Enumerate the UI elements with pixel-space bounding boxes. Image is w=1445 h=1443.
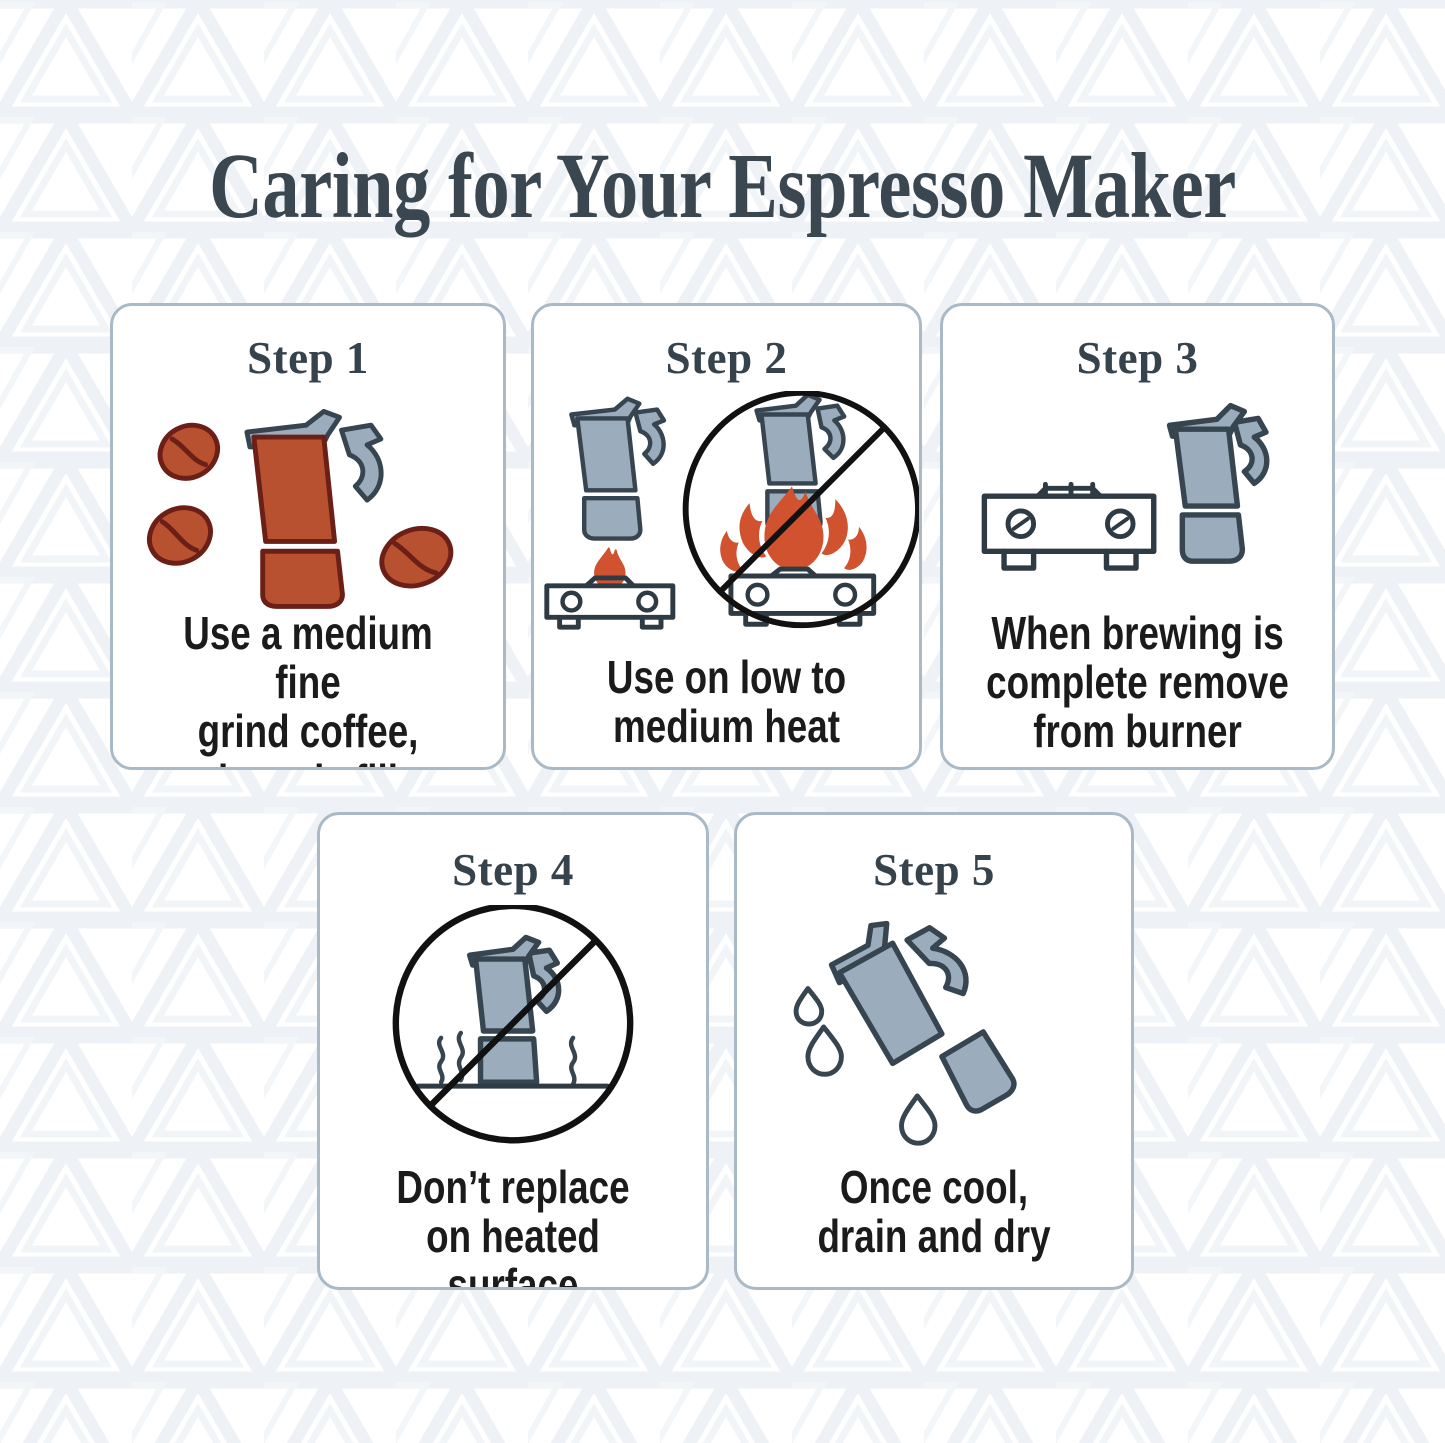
page-title: Caring for Your Espresso Maker [145,138,1301,236]
step-card-2: Step 2 [531,303,922,770]
moka-pot-icon [470,937,559,1082]
step-caption-5: Once cool, drain and dry [776,1163,1091,1261]
illustration-no-pot-on-heated-surface [320,905,706,1155]
crossed-out-high-flame-group [686,393,918,625]
pot-handle [341,425,381,500]
moka-pot-on-low-flame [547,399,673,627]
step-label-3: Step 3 [943,332,1332,384]
illustration-low-flame-vs-high-flame [534,391,919,631]
pot-lower-chamber [942,1032,1014,1111]
step-caption-4: Don’t replace on heated surface [359,1163,668,1290]
step-label-1: Step 1 [113,332,503,384]
heat-wave-icon [571,1038,575,1084]
pot-upper-chamber [254,437,335,541]
coffee-bean-icon [151,415,227,488]
illustration-disassembled-pot-draining [737,900,1131,1150]
illustration-stove-and-removed-pot [943,391,1332,626]
step-caption-1: Use a medium fine grind coffee, loosely … [152,609,464,770]
large-flames-icon [720,486,866,571]
illustration-red-moka-pot-with-beans [113,394,503,614]
stove-icon [984,484,1153,568]
small-flame-icon [595,548,625,587]
step-label-2: Step 2 [534,332,919,384]
prohibition-sign-icon [396,906,630,1140]
coffee-bean-icon [373,518,459,596]
step-caption-2: Use on low to medium heat [573,653,881,751]
pot-lower-chamber [263,551,343,606]
step-card-5: Step 5 [734,812,1134,1290]
step-card-3: Step 3 [940,303,1335,770]
step-label-5: Step 5 [737,844,1131,896]
step-caption-3: When brewing is complete remove from bur… [982,609,1293,757]
step-label-4: Step 4 [320,844,706,896]
moka-pot-icon [1170,406,1267,562]
step-card-1: Step 1 [110,303,506,770]
step-card-4: Step 4 [317,812,709,1290]
stove-icon [547,578,673,627]
coffee-bean-icon [140,497,221,574]
